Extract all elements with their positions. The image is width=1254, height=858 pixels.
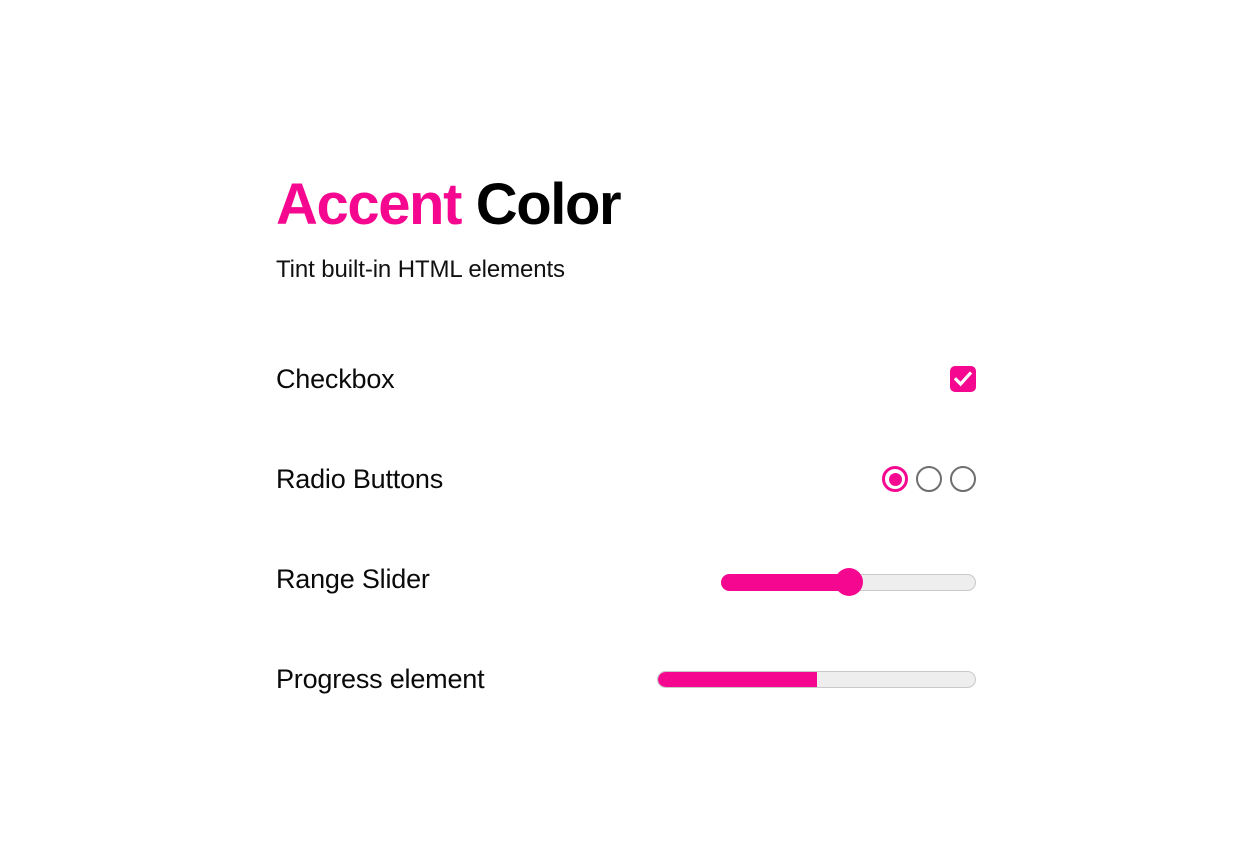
row-control-radio-buttons [882,466,976,492]
radio-option-2[interactable] [916,466,942,492]
row-progress: Progress element [276,629,976,729]
row-range-slider: Range Slider [276,529,976,629]
row-control-checkbox [950,366,976,392]
progress-fill [658,672,817,687]
page-title-plain-word: Color [476,172,620,237]
checkbox-input[interactable] [950,366,976,392]
range-slider-thumb[interactable] [835,568,863,596]
radio-group [882,466,976,492]
page-subtitle: Tint built-in HTML elements [276,234,976,283]
page-title-accent-word: Accent [276,172,461,237]
demo-rows: Checkbox Radio Buttons [276,283,976,729]
row-radio-buttons: Radio Buttons [276,429,976,529]
page-title: Accent Color [276,176,976,234]
row-label-radio-buttons: Radio Buttons [276,464,443,495]
row-control-progress [657,671,976,688]
page-root: Accent Color Tint built-in HTML elements… [0,0,1254,858]
radio-option-3[interactable] [950,466,976,492]
range-slider-fill [721,574,849,591]
radio-option-1[interactable] [882,466,908,492]
row-label-progress: Progress element [276,664,484,695]
row-control-range-slider [721,565,976,593]
content-container: Accent Color Tint built-in HTML elements… [276,176,976,729]
progress-element [657,671,976,688]
row-label-checkbox: Checkbox [276,364,394,395]
row-label-range-slider: Range Slider [276,564,430,595]
check-icon [950,366,976,392]
range-slider-input[interactable] [721,565,976,593]
row-checkbox: Checkbox [276,329,976,429]
